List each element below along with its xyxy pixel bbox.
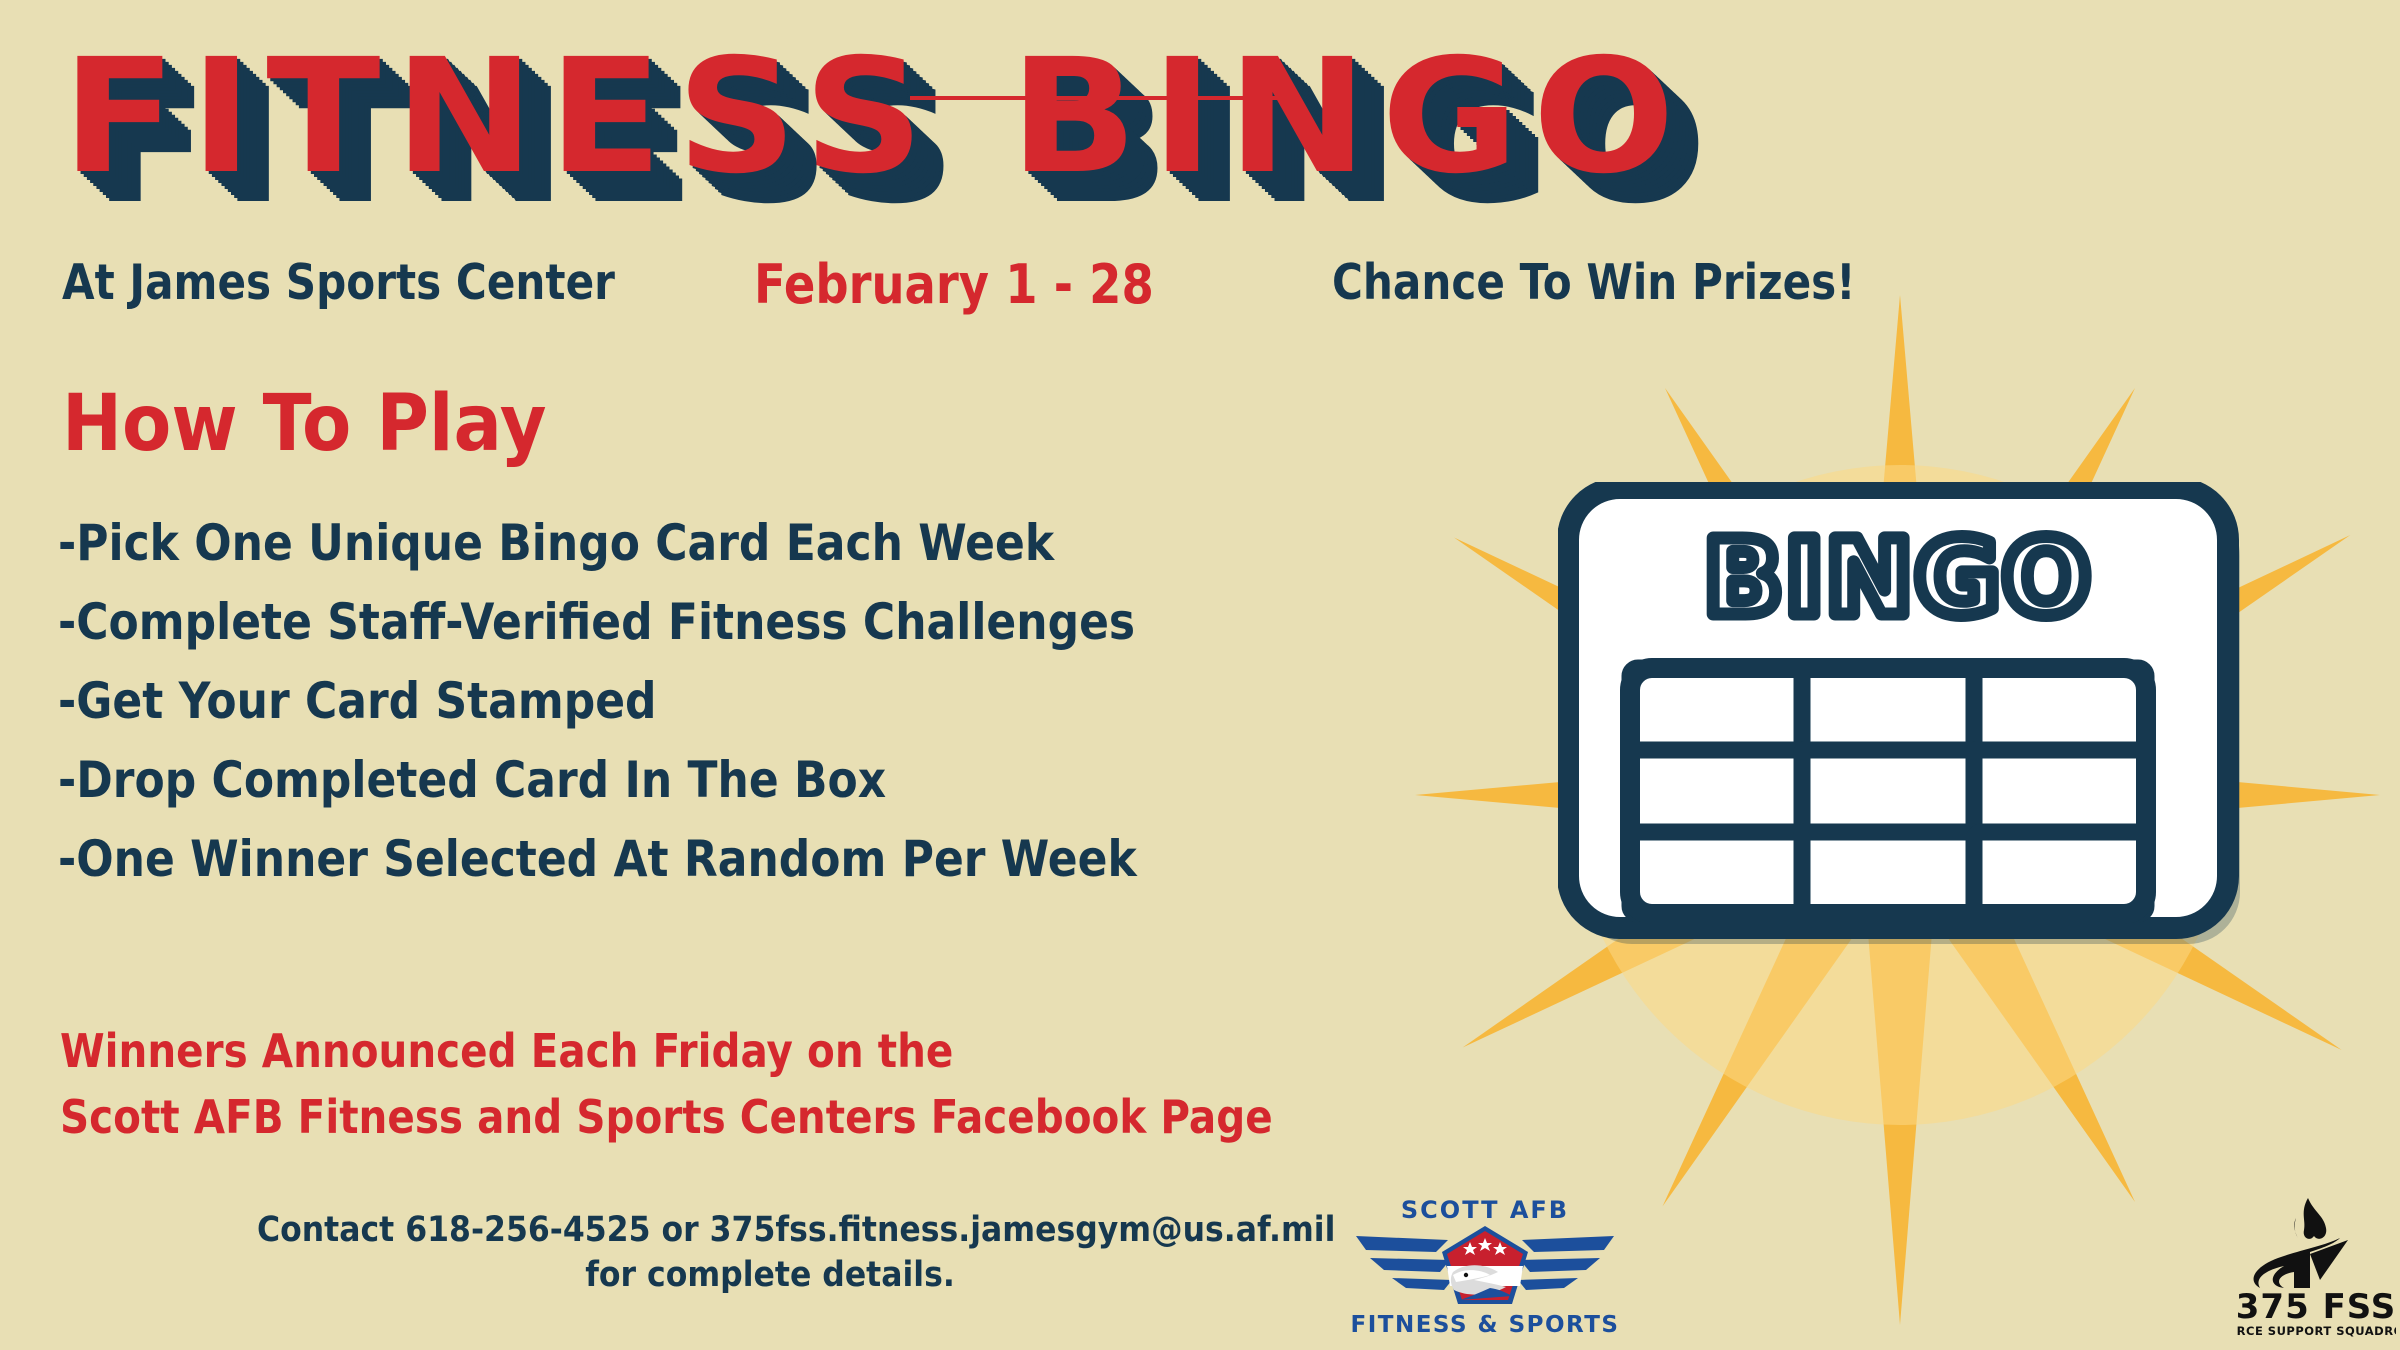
date-range-label: February 1 - 28 [754,258,1154,312]
how-to-play-heading: How To Play [62,385,547,463]
list-item: -Drop Completed Card In The Box [58,755,1137,805]
list-item: -Pick One Unique Bingo Card Each Week [58,518,1137,568]
venue-label: At James Sports Center [62,258,615,307]
fss-logo: 375 FSS FORCE SUPPORT SQUADRON [2236,1192,2396,1347]
scott-afb-bottom-text: FITNESS & SPORTS [1351,1312,1620,1338]
list-item: -One Winner Selected At Random Per Week [58,834,1137,884]
list-item: -Get Your Card Stamped [58,676,1137,726]
title-block: FITNESS BINGO [62,38,1597,196]
fss-title: 375 FSS [2236,1287,2396,1327]
winners-announcement: Winners Announced Each Friday on the Sco… [60,1028,1438,1160]
page-title: FITNESS BINGO [62,38,1689,196]
scott-afb-logo: SCOTT AFB FITNESS & SPORTS [1340,1192,1630,1347]
winners-line-1: Winners Announced Each Friday on the [60,1028,1273,1074]
prizes-label: Chance To Win Prizes! [1332,258,1855,307]
bingo-card-label: BINGO [1704,517,2093,639]
fss-subtitle: FORCE SUPPORT SQUADRON [2236,1324,2396,1338]
subtitle-row: At James Sports Center February 1 - 28 C… [62,258,2352,338]
how-to-play-list: -Pick One Unique Bingo Card Each Week -C… [58,518,1284,913]
winners-line-2: Scott AFB Fitness and Sports Centers Fac… [60,1094,1273,1140]
poster-canvas: FITNESS BINGO At James Sports Center Feb… [0,0,2400,1350]
contact-block: Contact 618-256-4525 or 375fss.fitness.j… [200,1208,1340,1298]
contact-line-2: for complete details. [257,1253,1283,1298]
list-item: -Complete Staff-Verified Fitness Challen… [58,597,1137,647]
bingo-card-graphic: BINGO [1558,482,2258,770]
contact-line-1: Contact 618-256-4525 or 375fss.fitness.j… [257,1208,1283,1253]
date-underline [910,96,1280,100]
scott-afb-top-text: SCOTT AFB [1401,1196,1569,1224]
